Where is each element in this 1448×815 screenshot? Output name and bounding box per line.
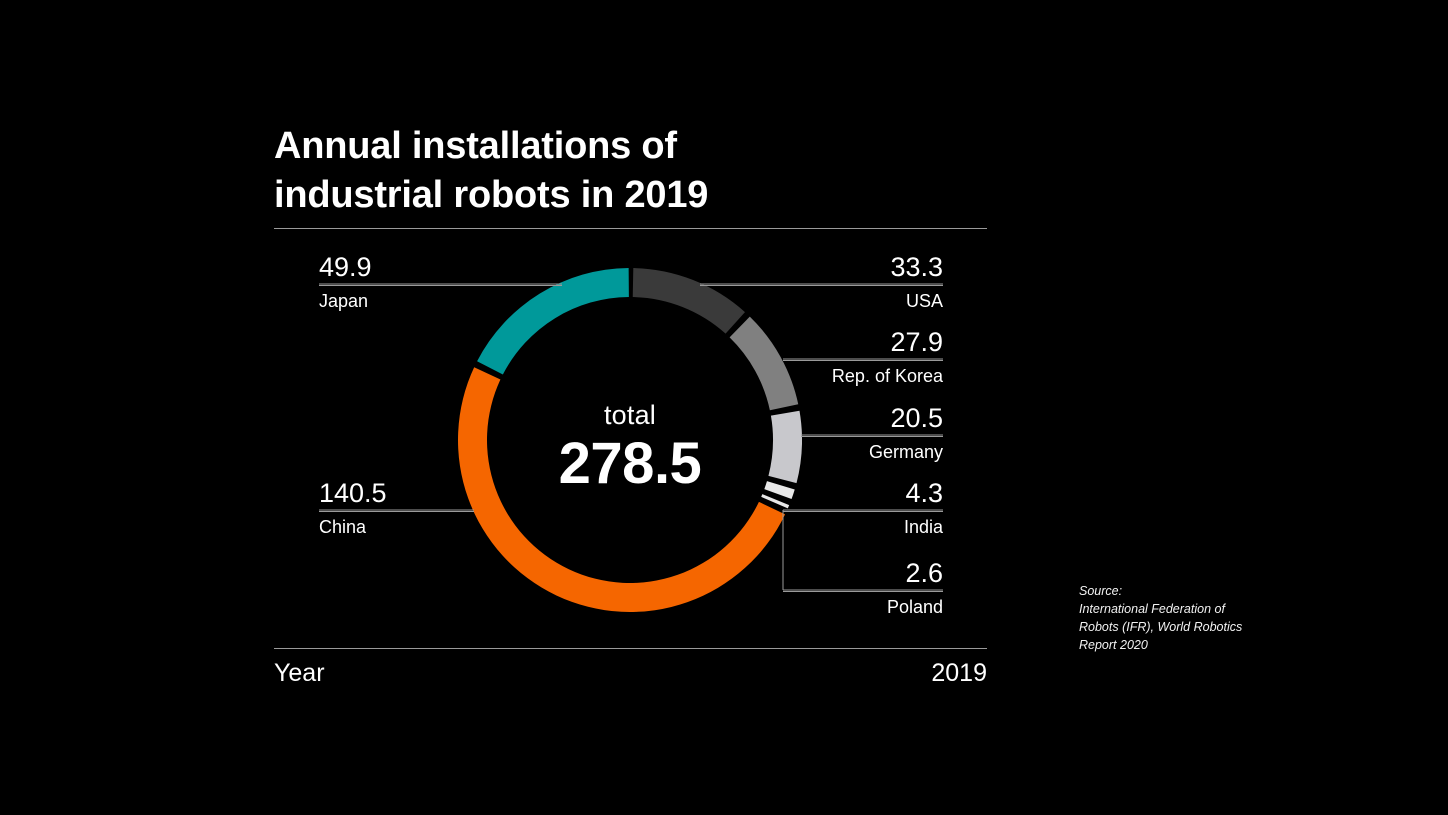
callout-japan: 49.9 Japan: [319, 252, 562, 314]
callout-usa: 33.3 USA: [700, 252, 943, 314]
source-note: Source: International Federation of Robo…: [1079, 582, 1269, 654]
callout-japan-name: Japan: [319, 286, 562, 314]
callout-india-name: India: [783, 512, 943, 540]
callout-korea-value: 27.9: [783, 327, 943, 360]
callout-japan-value: 49.9: [319, 252, 562, 285]
donut-center-label: total: [458, 400, 802, 431]
callout-india-value: 4.3: [783, 478, 943, 511]
callout-poland: 2.6 Poland: [783, 558, 943, 620]
callout-germany-name: Germany: [801, 437, 943, 465]
callout-germany: 20.5 Germany: [801, 403, 943, 465]
callout-germany-value: 20.5: [801, 403, 943, 436]
infographic-canvas: Annual installations of industrial robot…: [0, 0, 1448, 815]
donut-center-value: 278.5: [458, 430, 802, 497]
footer-year-value: 2019: [931, 659, 987, 688]
callout-china: 140.5 China: [319, 478, 474, 540]
callout-korea: 27.9 Rep. of Korea: [783, 327, 943, 389]
callout-china-name: China: [319, 512, 474, 540]
footer-year-label: Year: [274, 659, 325, 688]
callout-poland-value: 2.6: [783, 558, 943, 591]
page-title: Annual installations of industrial robot…: [274, 122, 994, 220]
callout-india: 4.3 India: [783, 478, 943, 540]
callout-usa-name: USA: [700, 286, 943, 314]
callout-korea-name: Rep. of Korea: [783, 361, 943, 389]
callout-poland-name: Poland: [783, 592, 943, 620]
callout-china-value: 140.5: [319, 478, 474, 511]
title-divider: [274, 228, 987, 229]
callout-usa-value: 33.3: [700, 252, 943, 285]
footer-divider: [274, 648, 987, 649]
